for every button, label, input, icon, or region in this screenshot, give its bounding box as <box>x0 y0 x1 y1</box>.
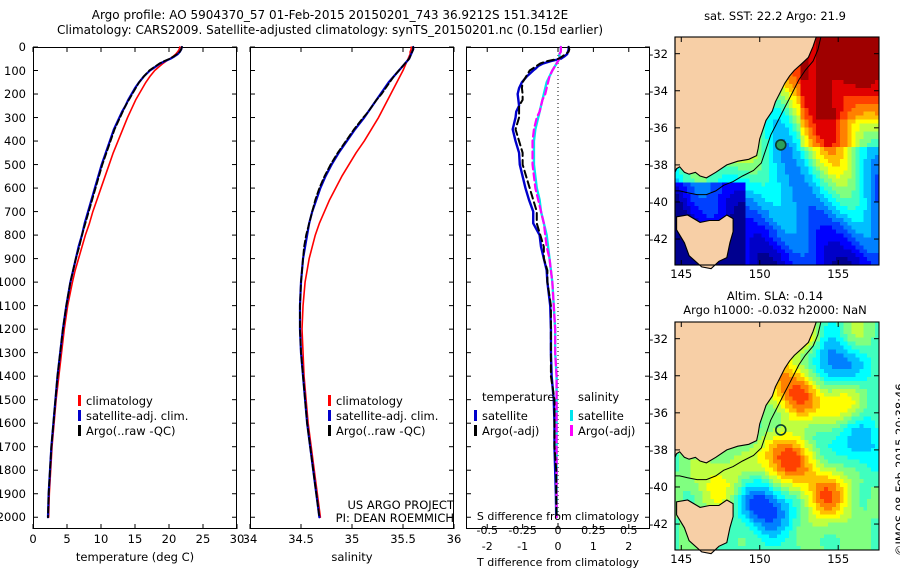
sla-lat-ticks: -32-34-36-38-40-42 <box>640 322 672 550</box>
depth-tick-900: 900 <box>4 252 26 266</box>
sla-lat-tick-4: -40 <box>649 480 668 494</box>
depth-tick-600: 600 <box>4 181 26 195</box>
figure-title-line2: Climatology: CARS2009. Satellite-adjuste… <box>0 23 660 37</box>
salinity-tick-3: 35.5 <box>390 532 416 546</box>
legend-item-argo-raw-qc-: Argo(..raw -QC) <box>328 420 426 434</box>
depth-tick-1300: 1300 <box>0 346 26 360</box>
sst-map-title: sat. SST: 22.2 Argo: 21.9 <box>660 9 890 23</box>
depth-tick-1700: 1700 <box>0 440 26 454</box>
salinity-tick-1: 34.5 <box>288 532 314 546</box>
salinity-tick-4: 36 <box>447 532 462 546</box>
legend-salinity: climatologysatellite-adj. clim.Argo(..ra… <box>328 390 478 440</box>
panel-difference-plot <box>466 47 650 529</box>
salinity-tick-0: 34 <box>243 532 258 546</box>
sla-lat-tick-2: -36 <box>649 406 668 420</box>
sst-lat-tick-0: -32 <box>649 47 668 61</box>
depth-tick-1200: 1200 <box>0 322 26 336</box>
legend-swatch <box>570 425 573 436</box>
legend-item-satellite-adj-clim-: satellite-adj. clim. <box>328 405 438 419</box>
depth-tick-1400: 1400 <box>0 369 26 383</box>
salinity-diff-tick-0: -0.5 <box>476 524 497 537</box>
depth-tick-1600: 1600 <box>0 416 26 430</box>
temperature-axis-label: temperature (deg C) <box>33 550 237 564</box>
legend-label: Argo(..raw -QC) <box>336 424 426 438</box>
legend-group-title-salinity: salinity <box>578 390 619 404</box>
salinity-difference-axis-label: S difference from climatology <box>466 510 650 523</box>
legend-swatch <box>328 425 331 436</box>
depth-tick-300: 300 <box>4 111 26 125</box>
sla-map-title-line1: Altim. SLA: -0.14 <box>660 289 890 303</box>
imos-credit: ©IMOS 08-Feb-2015 20:38:46 <box>893 552 900 571</box>
legend-item-satellite-adj-clim-: satellite-adj. clim. <box>78 405 188 419</box>
legend-label: Argo(..raw -QC) <box>86 424 176 438</box>
salinity-axis-label: salinity <box>250 550 454 564</box>
legend-difference: temperaturesatelliteArgo(-adj)salinitysa… <box>474 390 650 440</box>
depth-axis-ticks: 0100200300400500600700800900100011001200… <box>0 47 30 529</box>
legend-item-temperature-argo-adj-: Argo(-adj) <box>474 420 539 434</box>
legend-item-temperature-satellite: satellite <box>474 405 528 419</box>
sst-lat-ticks: -32-34-36-38-40-42 <box>640 37 672 265</box>
sla-lon-ticks: 145150155 <box>675 552 879 566</box>
legend-swatch <box>474 425 477 436</box>
legend-temperature: climatologysatellite-adj. clim.Argo(..ra… <box>78 390 228 440</box>
depth-tick-1500: 1500 <box>0 393 26 407</box>
legend-item-salinity-argo-adj-: Argo(-adj) <box>570 420 635 434</box>
sst-lon-ticks: 145150155 <box>675 267 879 281</box>
temperature-axis-ticks: 051015202530 <box>33 532 237 548</box>
temperature-difference-axis-label: T difference from climatology <box>466 556 650 569</box>
salinity-diff-tick-1: -0.25 <box>508 524 536 537</box>
imos-credit-text: ©IMOS 08-Feb-2015 20:38:46 <box>893 383 900 556</box>
legend-swatch <box>78 425 81 436</box>
legend-item-argo-raw-qc-: Argo(..raw -QC) <box>78 420 176 434</box>
temperature-tick-20: 20 <box>162 532 177 546</box>
sla-lon-tick-150: 150 <box>749 552 771 566</box>
sst-lat-tick-1: -34 <box>649 84 668 98</box>
sst-lat-tick-4: -40 <box>649 195 668 209</box>
temperature-diff-tick--2: -2 <box>482 540 493 553</box>
legend-item-climatology: climatology <box>78 390 153 404</box>
depth-tick-500: 500 <box>4 158 26 172</box>
sst-lat-tick-3: -38 <box>649 158 668 172</box>
salinity-diff-tick-4: 0.5 <box>620 524 638 537</box>
sst-lat-tick-5: -42 <box>649 232 668 246</box>
depth-tick-0: 0 <box>19 40 26 54</box>
depth-tick-1000: 1000 <box>0 275 26 289</box>
temperature-diff-tick-2: 2 <box>625 540 632 553</box>
sla-lat-tick-3: -38 <box>649 443 668 457</box>
sla-lon-tick-145: 145 <box>670 552 692 566</box>
depth-tick-100: 100 <box>4 64 26 78</box>
depth-tick-700: 700 <box>4 205 26 219</box>
project-pi: PI: DEAN ROEMMICH <box>336 512 454 525</box>
temperature-diff-tick--1: -1 <box>517 540 528 553</box>
depth-tick-1900: 1900 <box>0 487 26 501</box>
temperature-tick-15: 15 <box>128 532 143 546</box>
salinity-difference-axis-ticks: -0.5-0.2500.250.5 <box>466 524 650 538</box>
salinity-diff-tick-3: 0.25 <box>581 524 606 537</box>
depth-tick-2000: 2000 <box>0 510 26 524</box>
depth-tick-800: 800 <box>4 228 26 242</box>
salinity-tick-2: 35 <box>345 532 360 546</box>
temperature-diff-tick-0: 0 <box>555 540 562 553</box>
depth-tick-1800: 1800 <box>0 463 26 477</box>
sla-lat-tick-0: -32 <box>649 332 668 346</box>
temperature-tick-5: 5 <box>63 532 70 546</box>
sla-map-title-line2: Argo h1000: -0.032 h2000: NaN <box>655 303 895 317</box>
legend-item-salinity-satellite: satellite <box>570 405 624 419</box>
salinity-diff-tick-2: 0 <box>555 524 562 537</box>
panel-temperature-plot <box>33 47 237 529</box>
legend-item-climatology: climatology <box>328 390 403 404</box>
map-sst-canvas <box>675 37 879 265</box>
legend-group-title-temperature: temperature <box>482 390 554 404</box>
figure-title-line1: Argo profile: AO 5904370_57 01-Feb-2015 … <box>0 8 660 22</box>
panel-salinity-plot <box>250 47 454 529</box>
legend-label: Argo(-adj) <box>578 424 635 438</box>
temperature-tick-0: 0 <box>29 532 36 546</box>
sst-lon-tick-155: 155 <box>827 267 849 281</box>
temperature-tick-25: 25 <box>196 532 211 546</box>
figure-root: Argo profile: AO 5904370_57 01-Feb-2015 … <box>0 0 900 580</box>
sst-lon-tick-150: 150 <box>749 267 771 281</box>
legend-label: Argo(-adj) <box>482 424 539 438</box>
depth-tick-200: 200 <box>4 87 26 101</box>
temperature-tick-10: 10 <box>94 532 109 546</box>
sst-lon-tick-145: 145 <box>670 267 692 281</box>
depth-tick-1100: 1100 <box>0 299 26 313</box>
sla-lat-tick-1: -34 <box>649 369 668 383</box>
salinity-axis-ticks: 3434.53535.536 <box>250 532 454 548</box>
sst-lat-tick-2: -36 <box>649 121 668 135</box>
sla-lon-tick-155: 155 <box>827 552 849 566</box>
temperature-diff-tick-1: 1 <box>590 540 597 553</box>
depth-tick-400: 400 <box>4 134 26 148</box>
temperature-difference-axis-ticks: -2-1012 <box>466 540 650 554</box>
sla-lat-tick-5: -42 <box>649 517 668 531</box>
map-sla-canvas <box>675 322 879 550</box>
